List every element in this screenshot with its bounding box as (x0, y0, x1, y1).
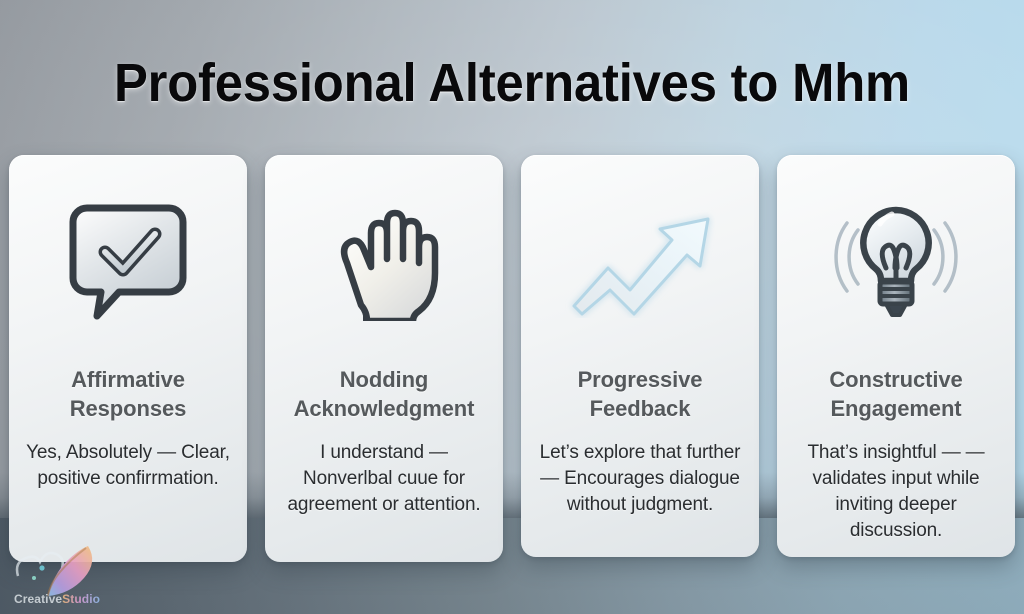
feather-quill-logo-icon (12, 542, 144, 598)
speech-bubble-check-icon (67, 203, 189, 321)
card-title: Progressive Feedback (535, 365, 745, 424)
card-title: Constructive Engagement (791, 365, 1001, 424)
card-body: I understand — Nonverlbal cuue for agree… (279, 440, 489, 519)
infographic-canvas: Professional Alternatives to Mhm (0, 0, 1024, 614)
watermark-text: CreativeStudio (14, 592, 100, 606)
upward-trend-arrow-icon (564, 203, 716, 321)
watermark-text-creative: Creative (14, 592, 62, 606)
watermark-text-studio: Studio (62, 592, 100, 606)
card-body: Let’s explore that further — Encourages … (535, 440, 745, 519)
card-nodding-acknowledgment[interactable]: Nodding Acknowledgment I understand — No… (265, 155, 503, 562)
watermark: CreativeStudio (12, 542, 144, 608)
raised-hand-icon (328, 203, 440, 321)
card-body: That’s insightful — — validates input wh… (791, 440, 1001, 545)
card-title: Nodding Acknowledgment (279, 365, 489, 424)
card-body: Yes, Absolutely — Clear, positive confir… (23, 440, 233, 492)
card-affirmative-responses[interactable]: Affirmative Responses Yes, Absolutely — … (9, 155, 247, 562)
card-title: Affirmative Responses (23, 365, 233, 424)
lightbulb-idea-icon (830, 203, 962, 321)
page-title: Professional Alternatives to Mhm (31, 52, 994, 114)
card-grid: Affirmative Responses Yes, Absolutely — … (9, 155, 1015, 565)
card-constructive-engagement[interactable]: Constructive Engagement That’s insightfu… (777, 155, 1015, 557)
card-progressive-feedback[interactable]: Progressive Feedback Let’s explore that … (521, 155, 759, 557)
